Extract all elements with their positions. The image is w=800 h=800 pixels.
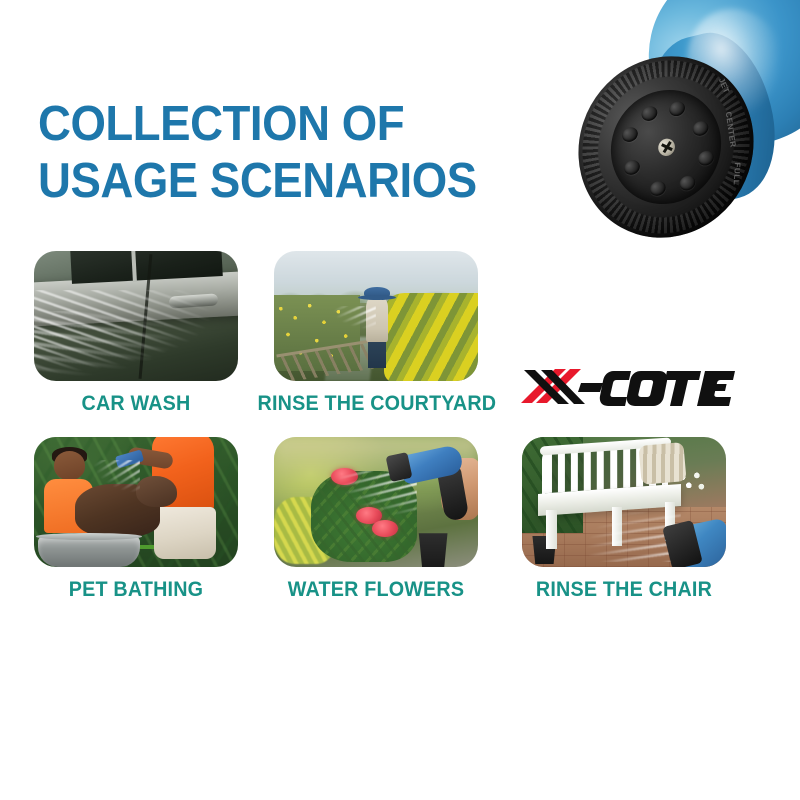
brand-logo xyxy=(519,366,739,410)
scenario-image-rinse-the-courtyard xyxy=(274,251,478,381)
center-screw xyxy=(656,136,676,158)
spray-port xyxy=(678,174,697,193)
dog-head xyxy=(136,476,177,507)
spray-port xyxy=(640,104,659,123)
striped-cushion xyxy=(639,442,687,485)
gardener-hat xyxy=(364,287,391,299)
scenario-image-water-flowers xyxy=(274,437,478,567)
page-title: COLLECTION OF USAGE SCENARIOS xyxy=(38,96,531,210)
bench-leg xyxy=(546,510,556,549)
spray-port xyxy=(648,179,667,198)
scenario-image-pet-bathing xyxy=(34,437,238,567)
x-mark-icon xyxy=(521,369,603,404)
plant-pot xyxy=(417,533,450,567)
caption-car-wash: CAR WASH xyxy=(40,392,232,416)
product-hero-photo: JET CENTER FULL xyxy=(560,0,800,250)
spray-port xyxy=(697,149,716,168)
spray-port xyxy=(668,100,687,119)
caption-rinse-the-chair: RINSE THE CHAIR xyxy=(519,578,730,602)
water-spray xyxy=(79,460,140,504)
spray-port xyxy=(691,119,710,138)
caption-pet-bathing: PET BATHING xyxy=(40,578,232,602)
scenario-image-car-wash xyxy=(34,251,238,381)
water-spray xyxy=(323,306,376,332)
dial-label-full: FULL xyxy=(731,163,741,186)
adult-shorts xyxy=(154,507,215,559)
scenario-image-rinse-the-chair xyxy=(522,437,726,567)
wash-tub xyxy=(38,536,140,567)
flower-bed-right xyxy=(384,293,478,381)
logo-wordmark xyxy=(600,371,735,406)
caption-rinse-the-courtyard: RINSE THE COURTYARD xyxy=(258,392,495,416)
water-spray xyxy=(34,311,218,381)
spray-port xyxy=(621,125,640,144)
product-infographic: COLLECTION OF USAGE SCENARIOS JET CENTER… xyxy=(0,0,800,800)
gardener-legs xyxy=(368,339,386,368)
spray-port xyxy=(623,158,642,177)
caption-water-flowers: WATER FLOWERS xyxy=(280,578,472,602)
